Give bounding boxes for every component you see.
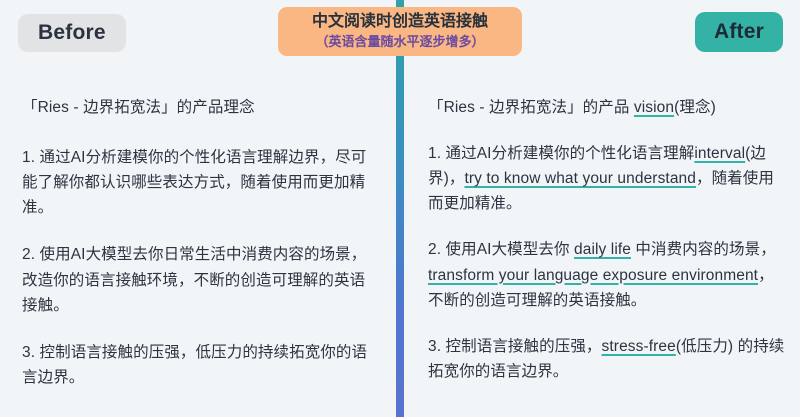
text-segment: (理念) — [674, 99, 716, 116]
text-segment: 3. 控制语言接触的压强，低压力的持续拓宽你的语言边界。 — [22, 344, 367, 386]
after-column: 「Ries - 边界拓宽法」的产品 vision(理念)1. 通过AI分析建模你… — [428, 95, 788, 405]
column-heading-text: 「Ries - 边界拓宽法」的产品理念 — [22, 95, 377, 120]
text-segment: 「Ries - 边界拓宽法」的产品理念 — [22, 99, 255, 116]
text-segment: 中消费内容的场景， — [631, 241, 776, 258]
highlighted-phrase: try to know what your understand — [464, 170, 696, 187]
column-paragraph: 2. 使用AI大模型去你日常生活中消费内容的场景，改造你的语言接触环境，不断的创… — [22, 242, 377, 317]
column-paragraph: 2. 使用AI大模型去你 daily life 中消费内容的场景，transfo… — [428, 237, 788, 312]
text-segment: 1. 通过AI分析建模你的个性化语言理解 — [428, 145, 694, 162]
column-paragraph: 3. 控制语言接触的压强，stress-free(低压力) 的持续拓宽你的语言边… — [428, 334, 788, 384]
comparison-header: Before 中文阅读时创造英语接触 （英语含量随水平逐步增多） After — [0, 0, 800, 80]
center-badge-subtitle: （英语含量随水平逐步增多） — [294, 34, 506, 51]
text-segment: 2. 使用AI大模型去你 — [428, 241, 574, 258]
center-concept-badge: 中文阅读时创造英语接触 （英语含量随水平逐步增多） — [278, 7, 522, 56]
highlighted-phrase: daily life — [574, 241, 631, 258]
column-paragraph: 1. 通过AI分析建模你的个性化语言理解边界，尽可能了解你都认识哪些表达方式，随… — [22, 145, 377, 220]
column-paragraph: 3. 控制语言接触的压强，低压力的持续拓宽你的语言边界。 — [22, 340, 377, 390]
text-segment: 「Ries - 边界拓宽法」的产品 — [428, 99, 634, 116]
highlighted-phrase: stress-free — [602, 338, 676, 355]
before-column: 「Ries - 边界拓宽法」的产品理念1. 通过AI分析建模你的个性化语言理解边… — [22, 95, 377, 412]
column-paragraph: 1. 通过AI分析建模你的个性化语言理解interval(边界)，try to … — [428, 141, 788, 216]
highlighted-phrase: interval — [694, 145, 745, 162]
highlighted-phrase: vision — [634, 99, 674, 116]
after-label-pill: After — [695, 12, 783, 52]
text-segment: 2. 使用AI大模型去你日常生活中消费内容的场景，改造你的语言接触环境，不断的创… — [22, 246, 366, 313]
column-heading-text: 「Ries - 边界拓宽法」的产品 vision(理念) — [428, 95, 788, 120]
text-segment: 3. 控制语言接触的压强， — [428, 338, 602, 355]
highlighted-phrase: transform your language exposure environ… — [428, 267, 758, 284]
text-segment: 1. 通过AI分析建模你的个性化语言理解边界，尽可能了解你都认识哪些表达方式，随… — [22, 149, 366, 216]
before-label-pill: Before — [18, 14, 126, 52]
center-badge-title: 中文阅读时创造英语接触 — [294, 11, 506, 33]
